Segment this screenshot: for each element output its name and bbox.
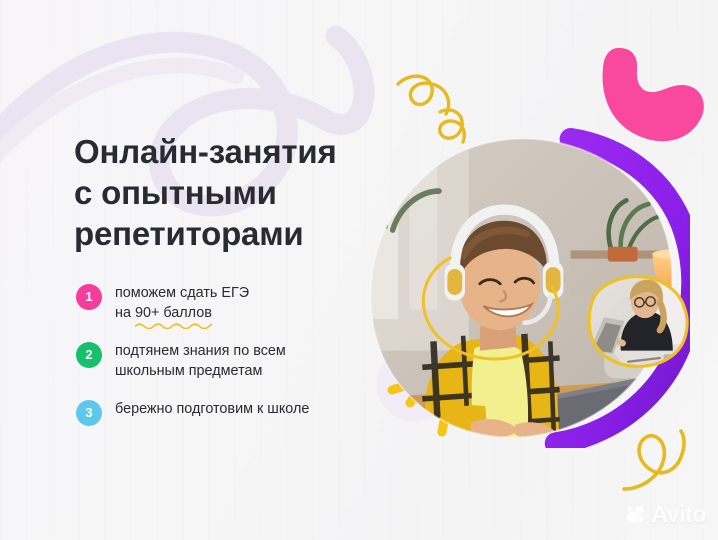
list-item: 1 поможем сдать ЕГЭ на 90+ баллов [76,283,406,323]
list-item-label: бережно подготовим к школе [115,399,309,419]
benefits-list: 1 поможем сдать ЕГЭ на 90+ баллов 2 подт… [76,283,406,426]
hero-photo-svg [368,128,690,448]
ad-banner: Онлайн-занятия с опытными репетиторами 1… [0,0,718,540]
list-item: 2 подтянем знания по всем школьным предм… [76,341,406,381]
list-item-highlight: 90+ баллов [135,305,212,321]
page-title: Онлайн-занятия с опытными репетиторами [74,131,374,254]
list-item: 3 бережно подготовим к школе [76,399,406,426]
avito-watermark: Avito [625,501,706,528]
highlight-wrapper: 90+ баллов [135,303,212,323]
avito-logo-icon [625,504,647,526]
list-item-number-badge: 3 [76,400,102,426]
avito-watermark-label: Avito [651,501,706,528]
wavy-underline-icon [135,322,212,329]
list-item-number-badge: 1 [76,284,102,310]
list-item-label: подтянем знания по всем школьным предмет… [115,341,286,381]
list-item-number-badge: 2 [76,342,102,368]
list-item-label: поможем сдать ЕГЭ на 90+ баллов [115,283,249,323]
hero-photo [368,128,690,448]
